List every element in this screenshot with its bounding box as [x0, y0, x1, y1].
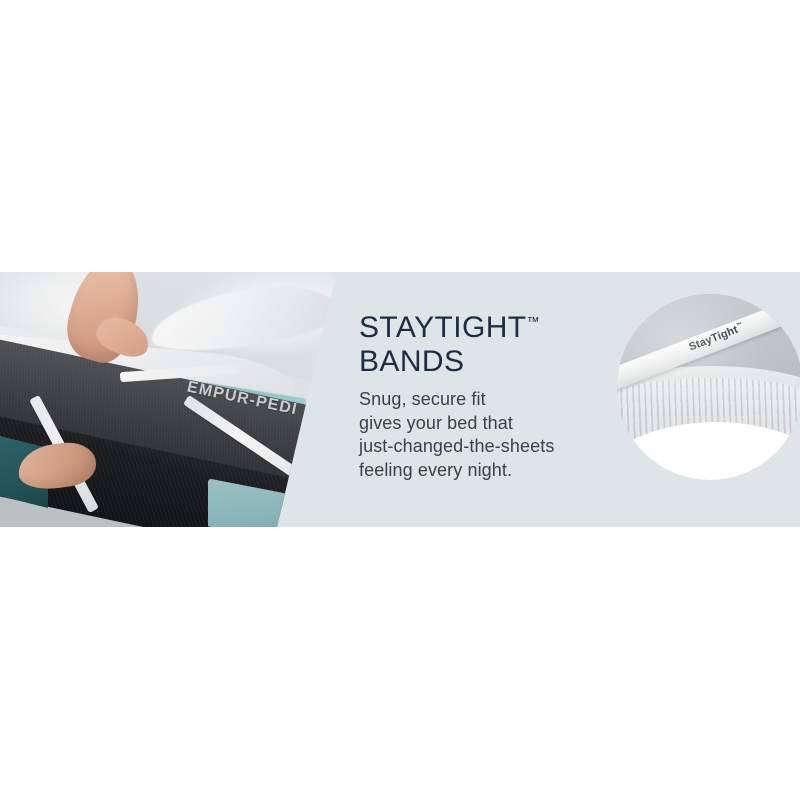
headline-line-1: STAYTIGHT™ — [359, 306, 609, 344]
promo-body-text: Snug, secure fit gives your bed that jus… — [359, 388, 609, 482]
promo-copy-block: STAYTIGHT™ BANDS Snug, secure fit gives … — [359, 306, 609, 482]
staytight-closeup-circle-image: StayTight™ — [617, 294, 800, 480]
staytight-promo-banner: EMPUR-PEDI STAYTIGHT™ BANDS Snug, secure… — [0, 272, 800, 527]
headline-line-2: BANDS — [359, 346, 609, 378]
trademark-symbol: ™ — [527, 314, 540, 329]
mattress-protector-photo: EMPUR-PEDI — [0, 272, 340, 527]
staytight-band-trademark: ™ — [736, 322, 744, 330]
page-canvas: EMPUR-PEDI STAYTIGHT™ BANDS Snug, secure… — [0, 0, 800, 800]
headline-line-1-text: STAYTIGHT — [359, 311, 527, 344]
